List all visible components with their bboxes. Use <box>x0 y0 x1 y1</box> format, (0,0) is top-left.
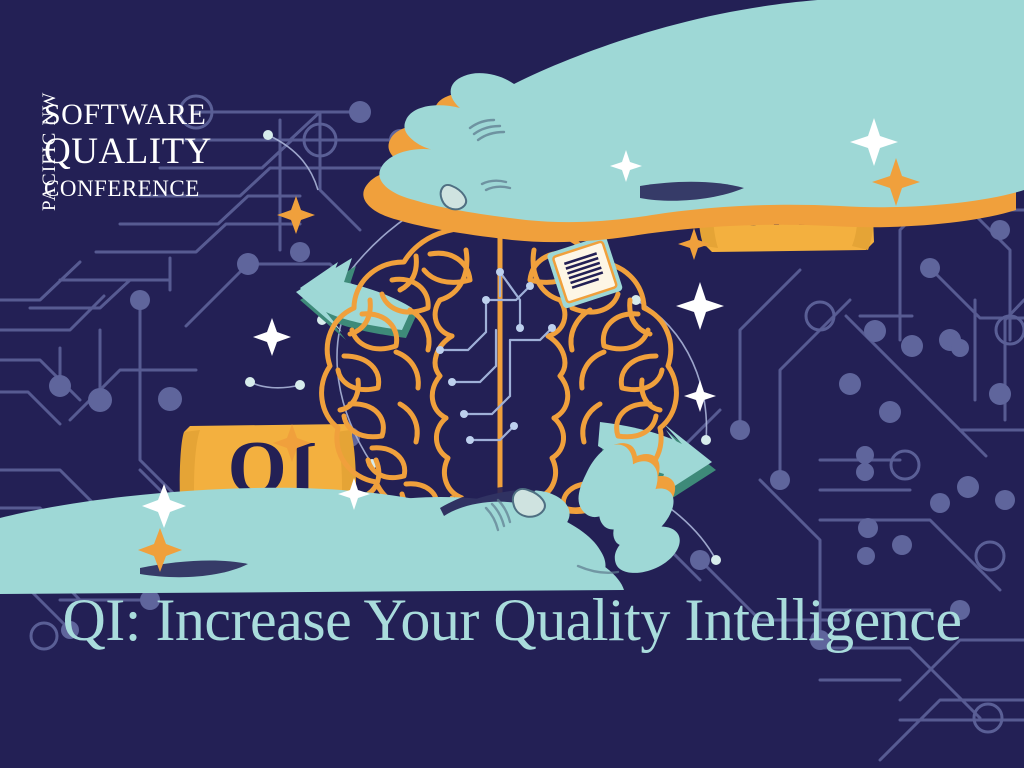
logo-line-quality: QUALITY <box>44 130 194 174</box>
logo-wordmark: SOFTWARE QUALITY CONFERENCE <box>44 100 194 204</box>
page-title: QI: Increase Your Quality Intelligence <box>0 586 1024 655</box>
conference-poster: QI 13-15 OCT 2025 <box>0 0 1024 768</box>
logo-line-software: SOFTWARE <box>44 100 194 130</box>
conference-logo: PACIFIC NW SOFTWARE QUALITY CONFERENCE <box>8 100 188 240</box>
logo-line-conference: CONFERENCE <box>44 174 194 204</box>
